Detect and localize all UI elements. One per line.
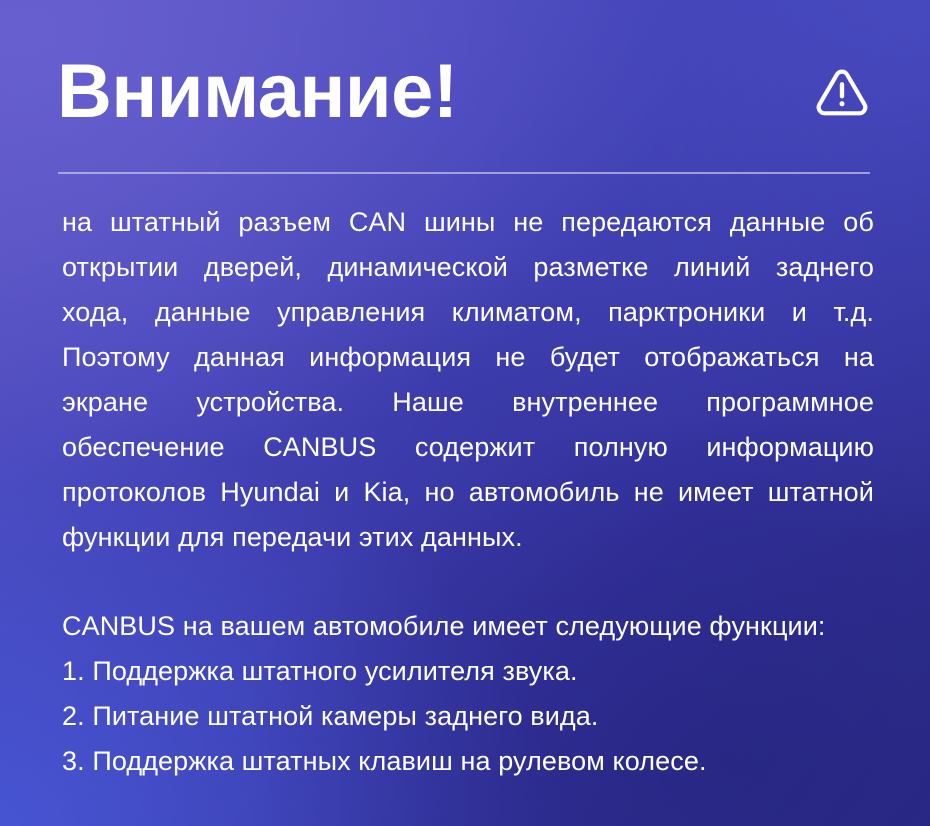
- warning-notice-card: Внимание! наштатныйразъемCANшинынепереда…: [0, 0, 930, 826]
- copy-line: CANBUS на вашем автомобиле имеет следующ…: [62, 604, 874, 649]
- copy-line: Поэтомуданнаяинформациянебудетотображать…: [62, 335, 874, 380]
- copy-line: экранеустройства.Нашевнутреннеепрограммн…: [62, 380, 874, 425]
- body-copy: наштатныйразъемCANшинынепередаютсяданные…: [62, 200, 874, 784]
- copy-line: функции для передачи этих данных.: [62, 515, 874, 560]
- list-item: 3. Поддержка штатных клавиш на рулевом к…: [62, 739, 874, 784]
- copy-line: наштатныйразъемCANшинынепередаютсяданные…: [62, 200, 874, 245]
- list-item: 1. Поддержка штатного усилителя звука.: [62, 649, 874, 694]
- page-title: Внимание!: [57, 52, 458, 132]
- header: Внимание!: [57, 52, 873, 132]
- copy-line: протоколовHyundaiиKia,ноавтомобильнеимее…: [62, 470, 874, 515]
- copy-line: хода,данныеуправленияклиматом,парктроник…: [62, 290, 874, 335]
- copy-line: открытиидверей,динамическойразметкелиний…: [62, 245, 874, 290]
- header-divider: [58, 172, 870, 174]
- warning-triangle-icon: [813, 63, 871, 121]
- paragraph-can-bus-limitations: наштатныйразъемCANшинынепередаютсяданные…: [62, 200, 874, 560]
- copy-line: обеспечениеCANBUSсодержитполнуюинформаци…: [62, 425, 874, 470]
- list-item: 2. Питание штатной камеры заднего вида.: [62, 694, 874, 739]
- paragraph-can-bus-features: CANBUS на вашем автомобиле имеет следующ…: [62, 604, 874, 784]
